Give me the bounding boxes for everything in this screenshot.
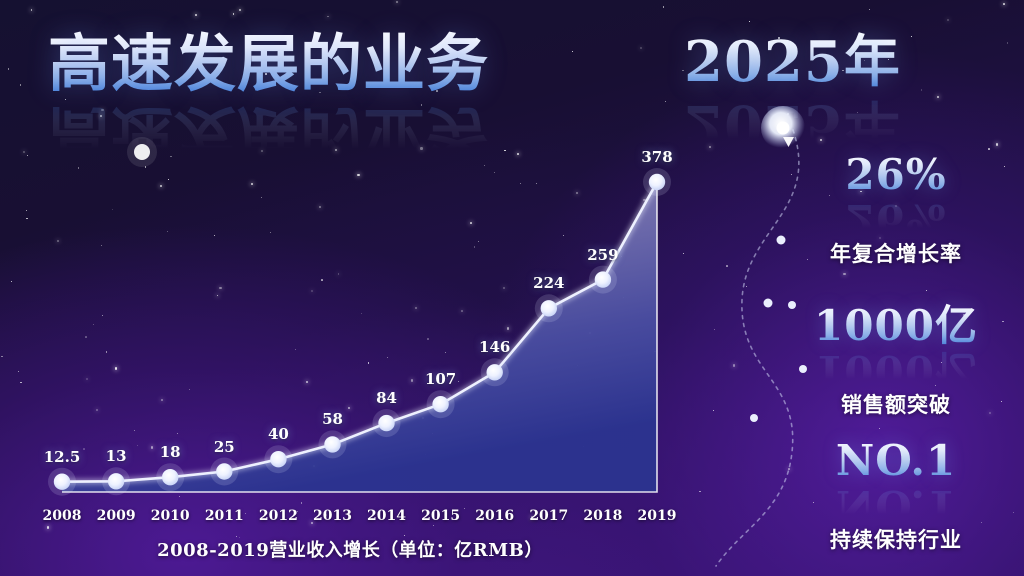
chart-value-label: 12.5	[44, 448, 81, 466]
chart-data-point[interactable]	[595, 271, 611, 287]
chart-area-fill	[62, 182, 657, 492]
stat-growth-label: 年复合增长率	[776, 241, 1016, 267]
chart-value-label: 84	[376, 389, 397, 407]
chart-data-point[interactable]	[54, 474, 70, 490]
chart-value-label: 378	[641, 148, 672, 166]
chart-value-label: 40	[268, 425, 289, 443]
stat-rank-value-reflection: NO.1	[776, 484, 1016, 526]
chart-x-tick-label: 2013	[313, 508, 352, 524]
chart-x-tick-label: 2011	[205, 508, 244, 524]
chart-x-tick-label: 2018	[583, 508, 622, 524]
stat-block-growth: 26% 26% 年复合增长率	[776, 152, 1016, 267]
chart-value-label: 18	[160, 443, 181, 461]
stat-growth-value-reflection: 26%	[776, 198, 1016, 240]
chart-data-point[interactable]	[270, 451, 286, 467]
chart-data-point[interactable]	[432, 396, 448, 412]
chart-x-tick-label: 2012	[259, 508, 298, 524]
chart-x-tick-label: 2008	[43, 508, 82, 524]
chart-value-label: 25	[214, 438, 235, 456]
chart-x-tick-label: 2010	[151, 508, 190, 524]
chart-value-label: 13	[106, 447, 127, 465]
stat-block-rank: NO.1 NO.1 持续保持行业	[776, 438, 1016, 553]
chart-x-tick-label: 2017	[529, 508, 568, 524]
chart-caption: 2008-2019营业收入增长（单位：亿RMB）	[0, 536, 700, 562]
stat-rank-value: NO.1	[776, 438, 1016, 484]
chart-data-point[interactable]	[216, 463, 232, 479]
stat-sales-label: 销售额突破	[776, 392, 1016, 418]
chart-data-point[interactable]	[649, 174, 665, 190]
stat-growth-value: 26%	[776, 152, 1016, 198]
chart-value-label: 259	[587, 246, 618, 264]
stat-block-sales: 1000亿 1000亿 销售额突破	[776, 303, 1016, 418]
stat-sales-value-reflection: 1000亿	[776, 349, 1016, 391]
chart-data-point[interactable]	[487, 364, 503, 380]
chart-value-label: 224	[533, 274, 564, 292]
chart-value-label: 107	[425, 370, 456, 388]
stat-sales-value: 1000亿	[776, 303, 1016, 349]
chart-data-point[interactable]	[378, 415, 394, 431]
chart-value-label: 146	[479, 338, 510, 356]
chart-x-tick-label: 2016	[475, 508, 514, 524]
chart-x-tick-label: 2015	[421, 508, 460, 524]
chart-x-tick-label: 2019	[638, 508, 677, 524]
chart-x-tick-label: 2009	[97, 508, 136, 524]
chart-data-point[interactable]	[162, 469, 178, 485]
chart-data-point[interactable]	[108, 473, 124, 489]
chart-value-label: 58	[322, 410, 343, 428]
chart-data-point[interactable]	[541, 300, 557, 316]
slide-canvas: 高速发展的业务 2025年 高速发展的业务 2025年	[0, 0, 1024, 576]
stat-rank-label: 持续保持行业	[776, 527, 1016, 553]
chart-data-point[interactable]	[324, 436, 340, 452]
chart-geometry	[48, 168, 671, 496]
chart-x-tick-label: 2014	[367, 508, 406, 524]
